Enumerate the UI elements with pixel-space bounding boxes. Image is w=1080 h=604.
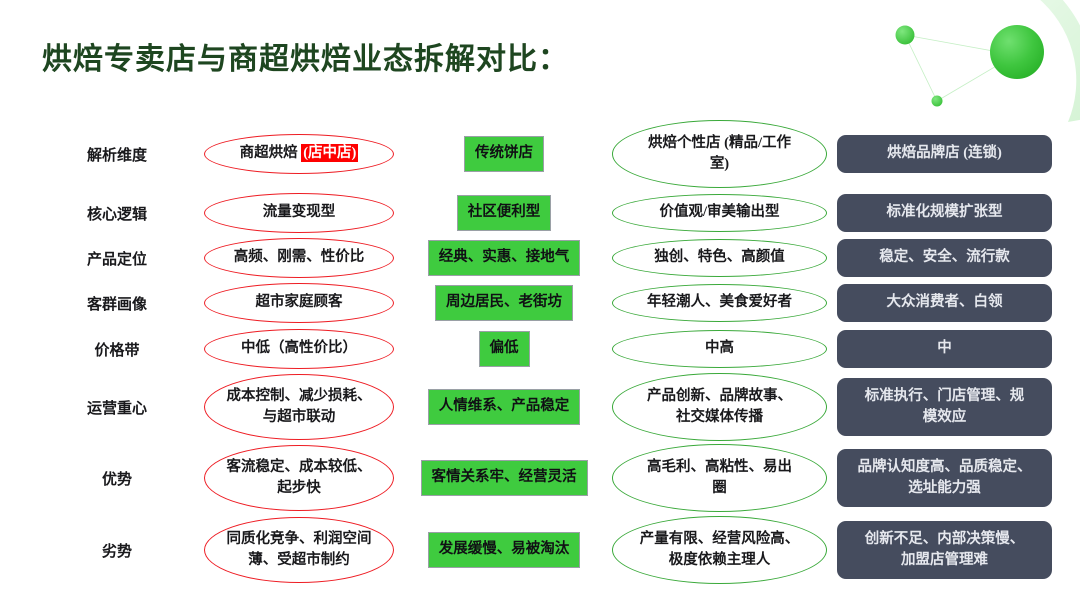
supermarket-text: 超市家庭顾客	[256, 292, 343, 313]
green-circle-large	[990, 25, 1044, 79]
brandchain-text: 烘焙品牌店 (连锁)	[847, 143, 1042, 164]
supermarket-text: 客流稳定、成本较低、 起步快	[227, 457, 372, 499]
green-ellipse: 产品创新、品牌故事、 社交媒体传播	[612, 386, 827, 428]
green-box: 传统饼店	[464, 136, 544, 171]
brandchain-text: 标准化规模扩张型	[847, 202, 1042, 223]
boutique-text: 价值观/审美输出型	[659, 202, 779, 223]
traditional-text: 人情维系、产品稳定	[439, 396, 570, 417]
traditional-text: 传统饼店	[475, 143, 533, 164]
supermarket-cell[interactable]: 客流稳定、成本较低、 起步快	[204, 457, 394, 499]
traditional-text: 经典、实惠、接地气	[439, 247, 570, 268]
dark-box: 中	[837, 330, 1052, 367]
brandchain-cell[interactable]: 大众消费者、白领	[837, 284, 1052, 321]
row-label: 产品定位	[42, 248, 192, 269]
supermarket-text: 中低（高性价比）	[241, 338, 357, 359]
boutique-text: 产量有限、经营风险高、 极度依赖主理人	[640, 529, 800, 571]
boutique-cell[interactable]: 产量有限、经营风险高、 极度依赖主理人	[612, 529, 827, 571]
brandchain-cell[interactable]: 标准执行、门店管理、规 模效应	[837, 378, 1052, 436]
table-row: 劣势同质化竞争、利润空间 薄、受超市制约发展缓慢、易被淘汰产量有限、经营风险高、…	[0, 514, 1080, 586]
supermarket-text: 同质化竞争、利润空间 薄、受超市制约	[227, 529, 372, 571]
row-label: 价格带	[42, 339, 192, 360]
dark-box: 稳定、安全、流行款	[837, 239, 1052, 276]
row-label-cell: 核心逻辑	[42, 203, 192, 224]
traditional-text: 发展缓慢、易被淘汰	[439, 539, 570, 560]
traditional-cell[interactable]: 客情关系牢、经营灵活	[404, 460, 604, 495]
row-label: 运营重心	[42, 397, 192, 418]
supermarket-text-wrap: 客流稳定、成本较低、 起步快	[219, 457, 380, 499]
brandchain-cell[interactable]: 标准化规模扩张型	[837, 194, 1052, 231]
dark-box: 标准执行、门店管理、规 模效应	[837, 378, 1052, 436]
dark-box: 创新不足、内部决策慢、 加盟店管理难	[837, 521, 1052, 579]
green-ellipse: 烘焙个性店 (精品/工作 室)	[612, 133, 827, 175]
traditional-text: 社区便利型	[468, 202, 541, 223]
traditional-cell[interactable]: 人情维系、产品稳定	[404, 389, 604, 424]
supermarket-text-plain: 商超烘焙	[240, 145, 302, 161]
row-label-cell: 客群画像	[42, 293, 192, 314]
comparison-table: 解析维度商超烘焙 (店中店)传统饼店烘焙个性店 (精品/工作 室)烘焙品牌店 (…	[0, 118, 1080, 586]
traditional-text: 偏低	[490, 338, 519, 359]
supermarket-text: 高频、刚需、性价比	[234, 247, 365, 268]
red-ellipse: 同质化竞争、利润空间 薄、受超市制约	[204, 529, 394, 571]
table-row: 产品定位高频、刚需、性价比经典、实惠、接地气独创、特色、高颜值稳定、安全、流行款	[0, 236, 1080, 280]
table-row: 运营重心成本控制、减少损耗、 与超市联动人情维系、产品稳定产品创新、品牌故事、 …	[0, 372, 1080, 442]
decorative-graphic	[880, 0, 1080, 130]
supermarket-cell[interactable]: 高频、刚需、性价比	[204, 247, 394, 268]
green-ellipse: 产量有限、经营风险高、 极度依赖主理人	[612, 529, 827, 571]
table-row: 价格带中低（高性价比）偏低中高中	[0, 326, 1080, 372]
row-label-cell: 解析维度	[42, 144, 192, 165]
red-ellipse: 中低（高性价比）	[204, 338, 394, 359]
dark-box: 烘焙品牌店 (连锁)	[837, 135, 1052, 172]
dark-box: 大众消费者、白领	[837, 284, 1052, 321]
boutique-cell[interactable]: 年轻潮人、美食爱好者	[612, 292, 827, 313]
boutique-cell[interactable]: 产品创新、品牌故事、 社交媒体传播	[612, 386, 827, 428]
brandchain-cell[interactable]: 烘焙品牌店 (连锁)	[837, 135, 1052, 172]
traditional-cell[interactable]: 周边居民、老街坊	[404, 285, 604, 320]
supermarket-text-wrap: 流量变现型	[255, 202, 344, 223]
traditional-text: 客情关系牢、经营灵活	[432, 467, 577, 488]
row-label: 优势	[42, 468, 192, 489]
brandchain-text: 中	[847, 338, 1042, 359]
boutique-text-wrap: 价值观/审美输出型	[651, 202, 787, 223]
green-ellipse: 高毛利、高粘性、易出 圈	[612, 457, 827, 499]
brandchain-text: 稳定、安全、流行款	[847, 247, 1042, 268]
supermarket-text-wrap: 商超烘焙 (店中店)	[232, 143, 367, 164]
green-box: 客情关系牢、经营灵活	[421, 460, 588, 495]
green-ellipse: 独创、特色、高颜值	[612, 247, 827, 268]
boutique-text-wrap: 中高	[697, 338, 742, 359]
red-ellipse: 超市家庭顾客	[204, 292, 394, 313]
dark-box: 标准化规模扩张型	[837, 194, 1052, 231]
brandchain-cell[interactable]: 品牌认知度高、品质稳定、 选址能力强	[837, 449, 1052, 507]
page-title: 烘焙专卖店与商超烘焙业态拆解对比：	[42, 34, 569, 78]
green-ellipse: 中高	[612, 338, 827, 359]
row-label-cell: 劣势	[42, 540, 192, 561]
supermarket-text-wrap: 超市家庭顾客	[248, 292, 351, 313]
boutique-text-wrap: 年轻潮人、美食爱好者	[639, 292, 800, 313]
boutique-cell[interactable]: 中高	[612, 338, 827, 359]
traditional-cell[interactable]: 发展缓慢、易被淘汰	[404, 532, 604, 567]
table-row: 客群画像超市家庭顾客周边居民、老街坊年轻潮人、美食爱好者大众消费者、白领	[0, 280, 1080, 326]
green-box: 社区便利型	[457, 195, 552, 230]
boutique-text-wrap: 产量有限、经营风险高、 极度依赖主理人	[632, 529, 808, 571]
boutique-cell[interactable]: 独创、特色、高颜值	[612, 247, 827, 268]
row-label: 客群画像	[42, 293, 192, 314]
green-box: 偏低	[479, 331, 530, 366]
brandchain-text: 标准执行、门店管理、规 模效应	[847, 386, 1042, 428]
supermarket-text-wrap: 同质化竞争、利润空间 薄、受超市制约	[219, 529, 380, 571]
table-row: 解析维度商超烘焙 (店中店)传统饼店烘焙个性店 (精品/工作 室)烘焙品牌店 (…	[0, 118, 1080, 190]
row-label: 劣势	[42, 540, 192, 561]
red-ellipse: 客流稳定、成本较低、 起步快	[204, 457, 394, 499]
boutique-cell[interactable]: 烘焙个性店 (精品/工作 室)	[612, 133, 827, 175]
row-label-cell: 运营重心	[42, 397, 192, 418]
boutique-text: 年轻潮人、美食爱好者	[647, 292, 792, 313]
green-ellipse: 年轻潮人、美食爱好者	[612, 292, 827, 313]
green-box: 人情维系、产品稳定	[428, 389, 581, 424]
traditional-cell[interactable]: 经典、实惠、接地气	[404, 240, 604, 275]
green-box: 发展缓慢、易被淘汰	[428, 532, 581, 567]
dark-box: 品牌认知度高、品质稳定、 选址能力强	[837, 449, 1052, 507]
table-row: 核心逻辑流量变现型社区便利型价值观/审美输出型标准化规模扩张型	[0, 190, 1080, 236]
traditional-cell[interactable]: 社区便利型	[404, 195, 604, 230]
supermarket-text: 商超烘焙 (店中店)	[240, 143, 359, 164]
row-label-cell: 产品定位	[42, 248, 192, 269]
supermarket-text-wrap: 高频、刚需、性价比	[226, 247, 373, 268]
brandchain-text: 创新不足、内部决策慢、 加盟店管理难	[847, 529, 1042, 571]
boutique-cell[interactable]: 高毛利、高粘性、易出 圈	[612, 457, 827, 499]
boutique-text-wrap: 高毛利、高粘性、易出 圈	[639, 457, 800, 499]
slide-canvas: 烘焙专卖店与商超烘焙业态拆解对比： 解析维度商超烘焙 (店中店)传统饼店烘焙个性…	[0, 0, 1080, 604]
boutique-text: 烘焙个性店 (精品/工作 室)	[648, 133, 791, 175]
green-box: 周边居民、老街坊	[435, 285, 573, 320]
row-label: 解析维度	[42, 144, 192, 165]
supermarket-text-wrap: 成本控制、减少损耗、 与超市联动	[219, 386, 380, 428]
table-row: 优势客流稳定、成本较低、 起步快客情关系牢、经营灵活高毛利、高粘性、易出 圈品牌…	[0, 442, 1080, 514]
green-arc-band	[924, 0, 1080, 122]
brandchain-text: 大众消费者、白领	[847, 292, 1042, 313]
red-ellipse: 成本控制、减少损耗、 与超市联动	[204, 386, 394, 428]
supermarket-text: 流量变现型	[263, 202, 336, 223]
green-box: 经典、实惠、接地气	[428, 240, 581, 275]
supermarket-cell[interactable]: 商超烘焙 (店中店)	[204, 143, 394, 164]
boutique-cell[interactable]: 价值观/审美输出型	[612, 202, 827, 223]
red-ellipse: 高频、刚需、性价比	[204, 247, 394, 268]
boutique-text-wrap: 产品创新、品牌故事、 社交媒体传播	[639, 386, 800, 428]
brandchain-cell[interactable]: 中	[837, 330, 1052, 367]
supermarket-cell[interactable]: 超市家庭顾客	[204, 292, 394, 313]
boutique-text: 中高	[705, 338, 734, 359]
brandchain-cell[interactable]: 稳定、安全、流行款	[837, 239, 1052, 276]
supermarket-cell[interactable]: 中低（高性价比）	[204, 338, 394, 359]
supermarket-text-wrap: 中低（高性价比）	[233, 338, 365, 359]
green-ellipse: 价值观/审美输出型	[612, 202, 827, 223]
brandchain-cell[interactable]: 创新不足、内部决策慢、 加盟店管理难	[837, 521, 1052, 579]
green-connector-lines	[905, 35, 1015, 101]
red-ellipse: 流量变现型	[204, 202, 394, 223]
boutique-text-wrap: 烘焙个性店 (精品/工作 室)	[640, 133, 799, 175]
traditional-cell[interactable]: 传统饼店	[404, 136, 604, 171]
red-ellipse: 商超烘焙 (店中店)	[204, 143, 394, 164]
row-label-cell: 价格带	[42, 339, 192, 360]
supermarket-text: 成本控制、减少损耗、 与超市联动	[227, 386, 372, 428]
boutique-text-wrap: 独创、特色、高颜值	[646, 247, 793, 268]
green-circle-medium	[896, 26, 915, 45]
traditional-text: 周边居民、老街坊	[446, 292, 562, 313]
brandchain-text: 品牌认知度高、品质稳定、 选址能力强	[847, 457, 1042, 499]
boutique-text: 产品创新、品牌故事、 社交媒体传播	[647, 386, 792, 428]
supermarket-cell[interactable]: 流量变现型	[204, 202, 394, 223]
boutique-text: 高毛利、高粘性、易出 圈	[647, 457, 792, 499]
supermarket-cell[interactable]: 同质化竞争、利润空间 薄、受超市制约	[204, 529, 394, 571]
traditional-cell[interactable]: 偏低	[404, 331, 604, 366]
row-label-cell: 优势	[42, 468, 192, 489]
supermarket-text-highlight: (店中店)	[301, 144, 358, 162]
row-label: 核心逻辑	[42, 203, 192, 224]
green-circle-small	[932, 96, 943, 107]
supermarket-cell[interactable]: 成本控制、减少损耗、 与超市联动	[204, 386, 394, 428]
boutique-text: 独创、特色、高颜值	[654, 247, 785, 268]
